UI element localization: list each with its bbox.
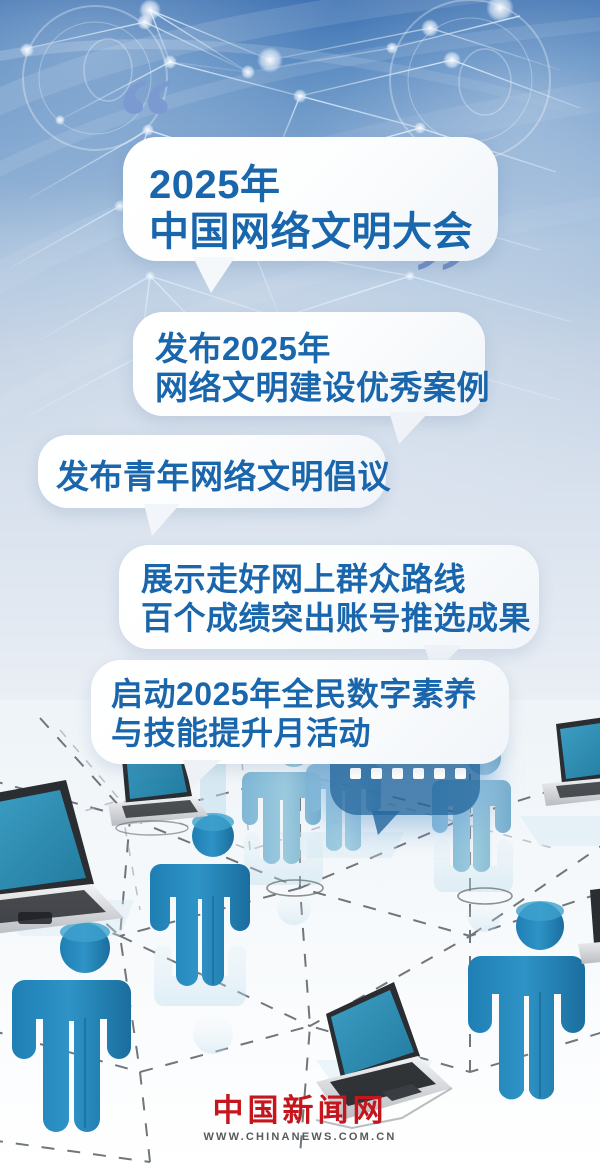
bubble-tail xyxy=(183,760,221,788)
poster-root: “ ” xyxy=(0,0,600,1167)
title-speech-bubble: 2025年 中国网络文明大会 xyxy=(123,137,498,261)
item-1-line-2: 网络文明建设优秀案例 xyxy=(155,361,490,409)
chat-dot xyxy=(455,768,466,779)
item-speech-bubble-3: 展示走好网上群众路线 百个成绩突出账号推选成果 xyxy=(119,545,539,649)
title-line-2: 中国网络文明大会 xyxy=(149,199,473,257)
chat-dot xyxy=(350,768,361,779)
chat-dot xyxy=(371,768,382,779)
item-4-line-2: 与技能提升月活动 xyxy=(111,708,371,754)
item-2-line-1: 发布青年网络文明倡议 xyxy=(56,450,391,498)
bubble-tail xyxy=(193,257,235,293)
brand-url: WWW.CHINANEWS.COM.CN xyxy=(0,1131,600,1143)
chat-bubble-dots xyxy=(350,768,466,779)
item-3-line-2: 百个成绩突出账号推选成果 xyxy=(141,593,531,639)
item-speech-bubble-1: 发布2025年 网络文明建设优秀案例 xyxy=(133,312,485,416)
chat-bubble-tail xyxy=(372,811,400,835)
footer-logo: 中国新闻网 WWW.CHINANEWS.COM.CN xyxy=(0,1095,600,1143)
chat-dot xyxy=(413,768,424,779)
chat-dot xyxy=(392,768,403,779)
item-speech-bubble-2: 发布青年网络文明倡议 xyxy=(38,435,386,508)
chat-dot xyxy=(434,768,445,779)
brand-name: 中国新闻网 xyxy=(0,1095,600,1128)
bubble-tail xyxy=(389,412,429,444)
item-speech-bubble-4: 启动2025年全民数字素养 与技能提升月活动 xyxy=(91,660,509,764)
bubble-tail xyxy=(144,504,180,536)
